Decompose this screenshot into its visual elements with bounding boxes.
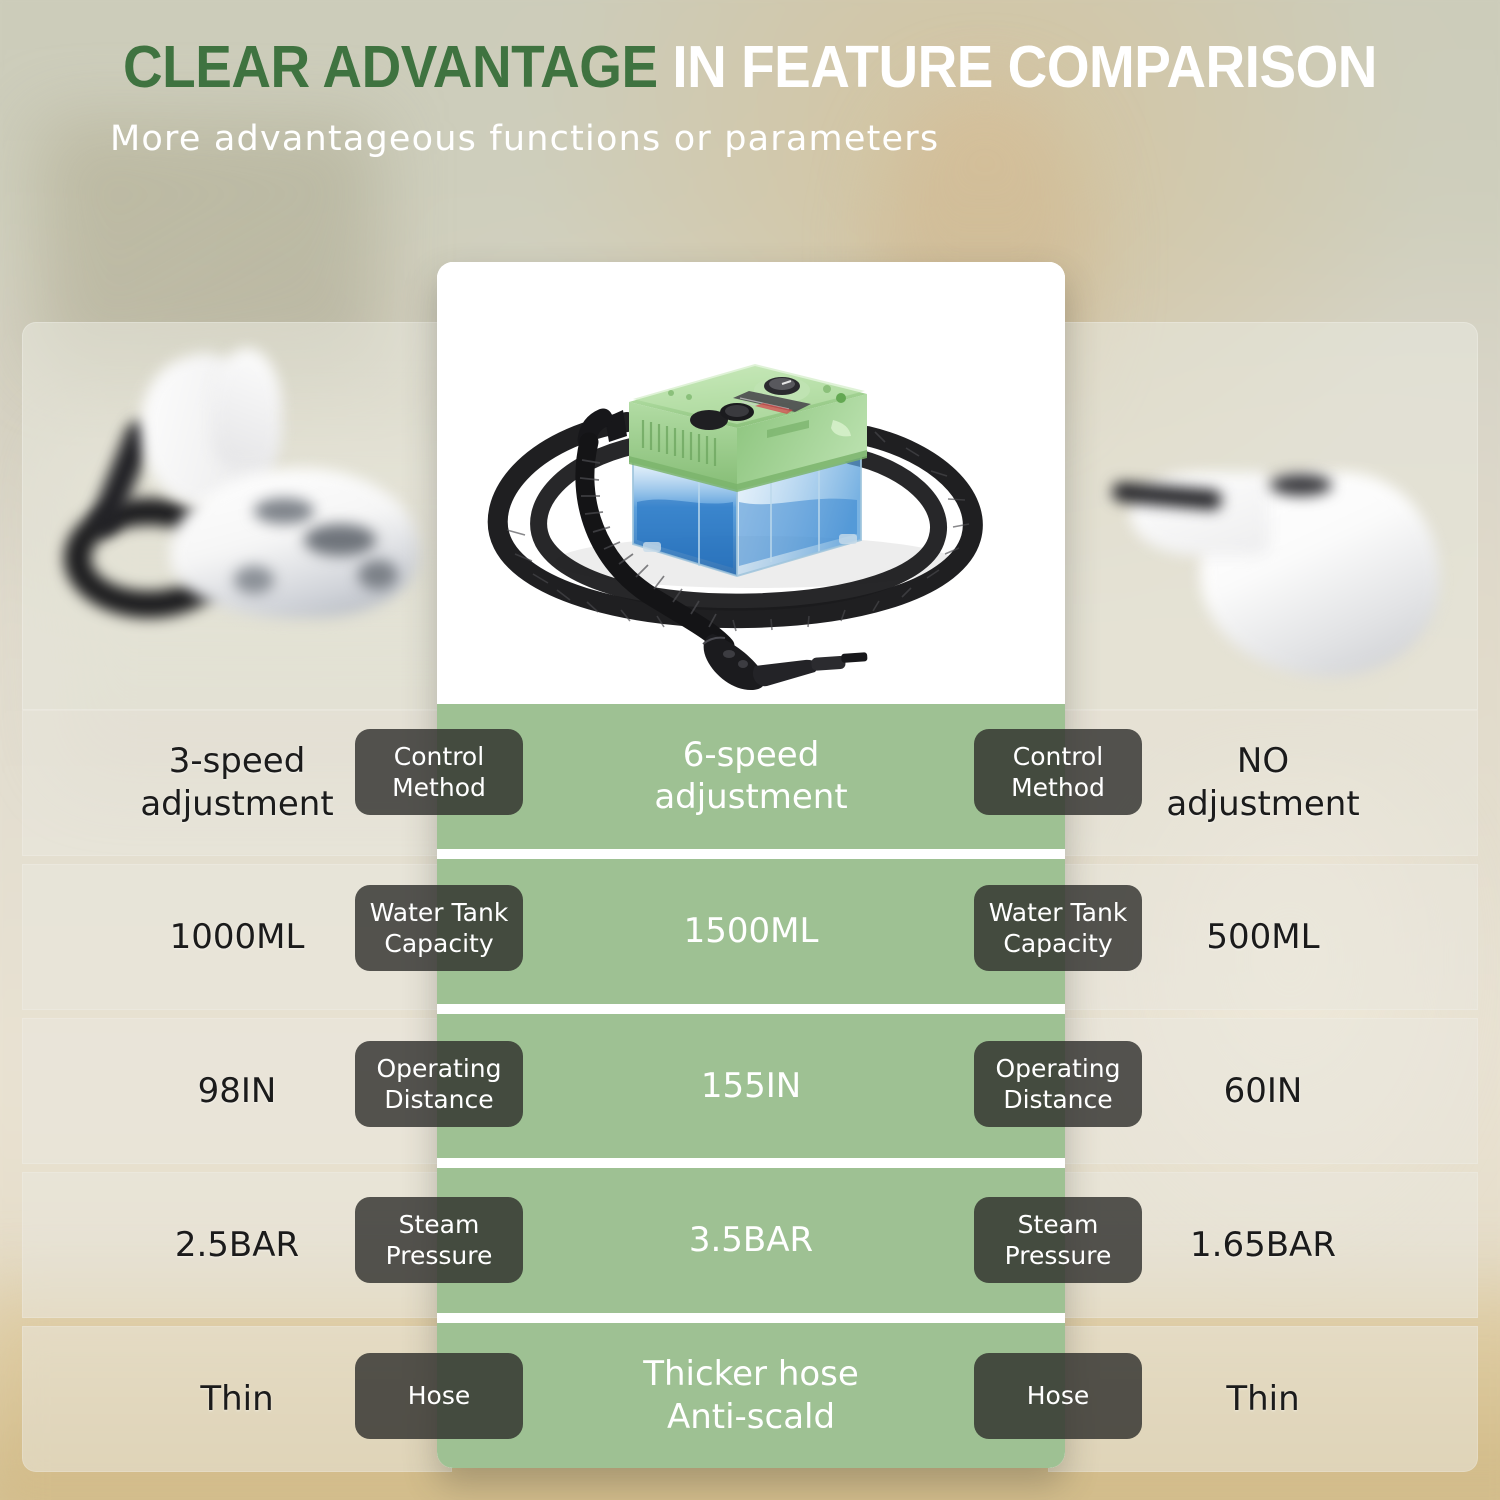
cell-value: 6-speed adjustment [654, 734, 847, 820]
feature-chip-steam-pressure-left: Steam Pressure [355, 1197, 523, 1283]
body-detail-4 [358, 560, 398, 590]
chip-line-2: Method [392, 773, 486, 802]
chip-line-2: Capacity [1003, 929, 1112, 958]
cell-line-2: adjustment [1166, 784, 1359, 824]
cell-value: 155IN [701, 1065, 801, 1108]
chip-label: Hose [1027, 1380, 1090, 1411]
feature-chip-hose-right: Hose [974, 1353, 1142, 1439]
cell-line-2: adjustment [654, 777, 847, 817]
chip-line-2: Capacity [384, 929, 493, 958]
infographic-stage: CLEAR ADVANTAGE IN FEATURE COMPARISON Mo… [0, 0, 1500, 1500]
chip-line-1: Steam [399, 1210, 480, 1239]
cell-value: NO adjustment [1166, 740, 1359, 826]
cell-value: 1000ML [170, 916, 305, 959]
page-subtitle: More advantageous functions or parameter… [0, 119, 1500, 159]
feature-chip-operating-distance-right: Operating Distance [974, 1041, 1142, 1127]
cell-line-2: adjustment [140, 784, 333, 824]
table-row: 6-speed adjustment [437, 704, 1065, 849]
steam-cleaner-illustration [437, 262, 1065, 704]
table-row: Thicker hose Anti-scald [437, 1323, 1065, 1468]
competitor-left-photo [22, 322, 452, 710]
cell-line-2: Anti-scald [667, 1397, 835, 1437]
cell-value: 500ML [1206, 916, 1319, 959]
chip-line-1: Operating [996, 1054, 1121, 1083]
power-button-shape [1270, 474, 1332, 496]
feature-chip-water-tank-right: Water Tank Capacity [974, 885, 1142, 971]
chip-label: Hose [408, 1380, 471, 1411]
chip-line-2: Method [1011, 773, 1105, 802]
body-detail-2 [304, 524, 376, 556]
chip-label: Water Tank Capacity [370, 897, 509, 960]
chip-label: Operating Distance [377, 1053, 502, 1116]
chip-line-1: Steam [1018, 1210, 1099, 1239]
feature-chip-hose-left: Hose [355, 1353, 523, 1439]
title-highlight: CLEAR ADVANTAGE [123, 34, 658, 100]
table-row: 1500ML [437, 859, 1065, 1004]
competitor-right-photo [1048, 322, 1478, 710]
cell-line-1: Thicker hose [643, 1354, 859, 1394]
neck-shape [212, 348, 282, 468]
body-detail-3 [234, 566, 274, 594]
cell-value: 3-speed adjustment [140, 740, 333, 826]
chip-label: Steam Pressure [1005, 1209, 1112, 1272]
cell-value: Thin [1226, 1378, 1299, 1421]
feature-chip-control-method-right: Control Method [974, 729, 1142, 815]
chip-line-2: Distance [1003, 1085, 1112, 1114]
chip-line-2: Pressure [1005, 1241, 1112, 1270]
cell-line-1: NO [1237, 741, 1289, 781]
page-title: CLEAR ADVANTAGE IN FEATURE COMPARISON [53, 0, 1448, 97]
table-row: 155IN [437, 1014, 1065, 1159]
cell-line-1: 3-speed [169, 741, 306, 781]
chip-line-1: Control [1013, 742, 1103, 771]
cell-value: 3.5BAR [689, 1219, 813, 1262]
feature-chip-control-method-left: Control Method [355, 729, 523, 815]
featured-product-photo [437, 262, 1065, 704]
cell-value: 1500ML [684, 910, 819, 953]
chip-label: Control Method [1011, 741, 1105, 804]
header: CLEAR ADVANTAGE IN FEATURE COMPARISON Mo… [0, 0, 1500, 159]
feature-chip-operating-distance-left: Operating Distance [355, 1041, 523, 1127]
chip-line-1: Control [394, 742, 484, 771]
cell-value: 60IN [1224, 1070, 1303, 1113]
cell-line-1: 6-speed [683, 735, 820, 775]
chip-line-1: Operating [377, 1054, 502, 1083]
featured-product-card: 6-speed adjustment 1500ML 155IN 3.5BAR T… [437, 262, 1065, 1468]
chip-label: Water Tank Capacity [989, 897, 1128, 960]
feature-chip-water-tank-left: Water Tank Capacity [355, 885, 523, 971]
featured-values: 6-speed adjustment 1500ML 155IN 3.5BAR T… [437, 704, 1065, 1468]
chip-line-2: Pressure [386, 1241, 493, 1270]
cell-value: 1.65BAR [1190, 1224, 1336, 1267]
chip-label: Steam Pressure [386, 1209, 493, 1272]
cell-value: 98IN [198, 1070, 277, 1113]
chip-label: Control Method [392, 741, 486, 804]
body-detail-1 [254, 498, 314, 524]
table-row: 3.5BAR [437, 1168, 1065, 1313]
title-rest: IN FEATURE COMPARISON [672, 34, 1377, 100]
cell-value: Thin [200, 1378, 273, 1421]
cell-value: Thicker hose Anti-scald [643, 1353, 859, 1439]
cell-value: 2.5BAR [175, 1224, 299, 1267]
chip-label: Operating Distance [996, 1053, 1121, 1116]
chip-line-2: Distance [384, 1085, 493, 1114]
chip-line-1: Water Tank [989, 898, 1128, 927]
feature-chip-steam-pressure-right: Steam Pressure [974, 1197, 1142, 1283]
chip-line-1: Water Tank [370, 898, 509, 927]
